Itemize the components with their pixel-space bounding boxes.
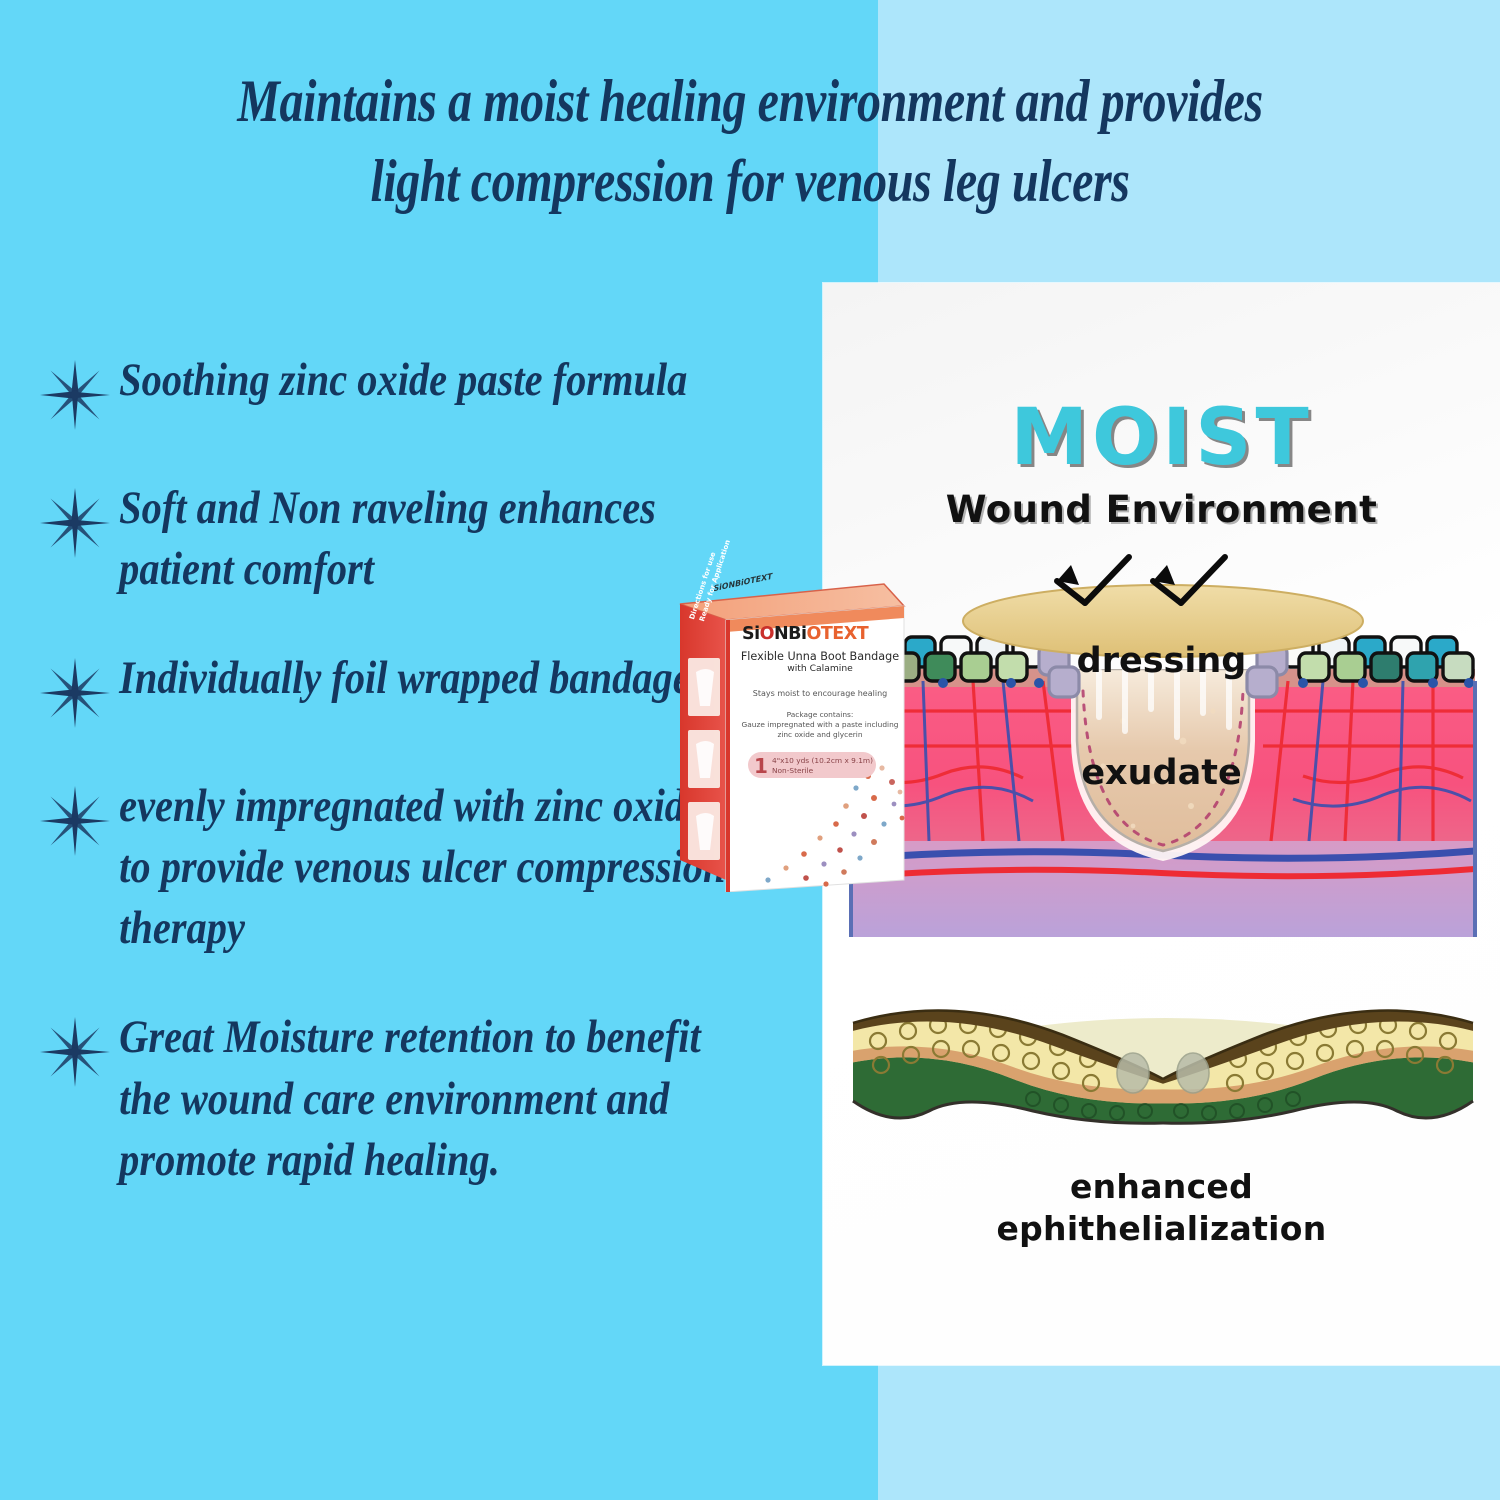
sparkle-icon bbox=[36, 356, 114, 434]
headline: Maintains a moist healing environment an… bbox=[150, 62, 1350, 222]
box-brand-logo: SiONBiOTEXT bbox=[742, 624, 892, 644]
box-contains-body: Gauze impregnated with a paste including… bbox=[742, 720, 899, 739]
list-item: Great Moisture retention to benefit the … bbox=[36, 1007, 826, 1190]
box-quantity-number: 1 bbox=[754, 754, 768, 778]
box-sterility-text: Non-Sterile bbox=[772, 766, 813, 775]
headline-line-2: light compression for venous leg ulcers bbox=[150, 142, 1350, 222]
sparkle-icon bbox=[36, 1013, 114, 1091]
diagram-title: MOIST bbox=[823, 393, 1500, 483]
caption-line-2: ephithelialization bbox=[823, 1209, 1500, 1248]
box-claim: Stays moist to encourage healing bbox=[736, 689, 904, 698]
brand-letter-o2: O bbox=[806, 624, 820, 644]
list-item-label: Soothing zinc oxide paste formula bbox=[114, 350, 726, 411]
headline-line-1: Maintains a moist healing environment an… bbox=[237, 68, 1263, 134]
box-contains: Package contains: Gauze impregnated with… bbox=[734, 710, 906, 740]
diagram-panel: MOIST Wound Environment bbox=[823, 283, 1500, 1365]
list-item-label: Individually foil wrapped bandages bbox=[114, 648, 726, 709]
product-box-image: SiONBiOTEXT Directions for use Ready for… bbox=[668, 562, 918, 892]
list-item-label: Soft and Non raveling enhances patient c… bbox=[114, 478, 726, 600]
sparkle-icon bbox=[36, 484, 114, 562]
promo-image-canvas: Maintains a moist healing environment an… bbox=[0, 0, 1500, 1500]
label-exudate: exudate bbox=[823, 753, 1500, 793]
list-item-label: Great Moisture retention to benefit the … bbox=[114, 1007, 726, 1190]
list-item-label: evenly impregnated with zinc oxide to pr… bbox=[114, 776, 726, 959]
brand-part-2: NBi bbox=[774, 624, 806, 644]
epithelialization-illustration bbox=[833, 983, 1493, 1193]
box-size-text: 4"x10 yds (10.2cm x 9.1m) bbox=[772, 756, 873, 765]
sparkle-icon bbox=[36, 782, 114, 860]
sparkle-icon bbox=[36, 654, 114, 732]
box-contains-title: Package contains: bbox=[787, 710, 854, 719]
brand-part-3: TEXT bbox=[821, 624, 868, 644]
label-dressing: dressing bbox=[823, 641, 1500, 681]
caption-line-1: enhanced bbox=[823, 1167, 1500, 1206]
box-product-sub: with Calamine bbox=[740, 663, 900, 674]
brand-letter-o1: O bbox=[760, 624, 774, 644]
box-product-name: Flexible Unna Boot Bandage bbox=[740, 650, 900, 663]
diagram-subtitle: Wound Environment bbox=[823, 488, 1500, 531]
list-item: Soothing zinc oxide paste formula bbox=[36, 350, 826, 434]
brand-part-1: Si bbox=[742, 624, 760, 644]
